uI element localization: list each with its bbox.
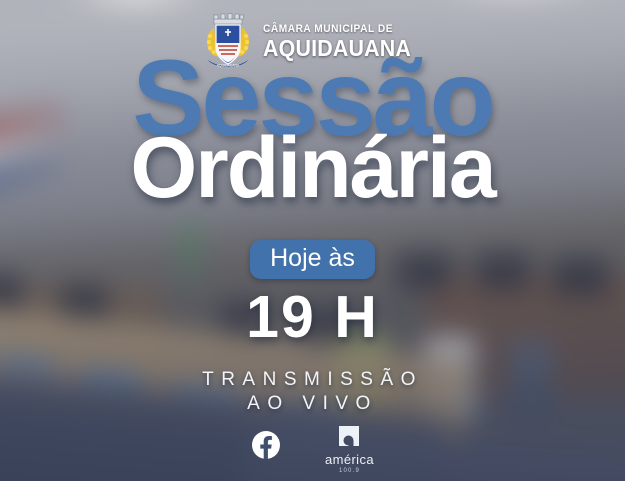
- headline-block: Sessão Ordinária: [0, 56, 625, 204]
- logo-row: américa 100.9: [0, 424, 625, 474]
- america-logo-icon: [336, 424, 362, 450]
- session-announcement-poster: AQUIDAUANA CÂMARA MUNICIPAL DE AQUIDAUAN…: [0, 0, 625, 481]
- schedule-pill-label: Hoje às: [250, 240, 375, 279]
- broadcast-line-2: AO VIVO: [0, 392, 625, 416]
- broadcast-line-1: TRANSMISSÃO: [0, 368, 625, 392]
- america-radio-logo[interactable]: américa 100.9: [325, 424, 374, 474]
- headline-line-2: Ordinária: [0, 132, 625, 204]
- poster-content: AQUIDAUANA CÂMARA MUNICIPAL DE AQUIDAUAN…: [0, 0, 625, 481]
- broadcast-block: TRANSMISSÃO AO VIVO: [0, 368, 625, 416]
- session-time: 19 H: [0, 288, 625, 347]
- america-frequency: 100.9: [325, 468, 374, 474]
- facebook-icon[interactable]: [251, 430, 281, 460]
- schedule-pill-row: Hoje às: [0, 240, 625, 279]
- america-name: américa: [325, 453, 374, 466]
- institution-line-1: CÂMARA MUNICIPAL DE: [263, 24, 409, 35]
